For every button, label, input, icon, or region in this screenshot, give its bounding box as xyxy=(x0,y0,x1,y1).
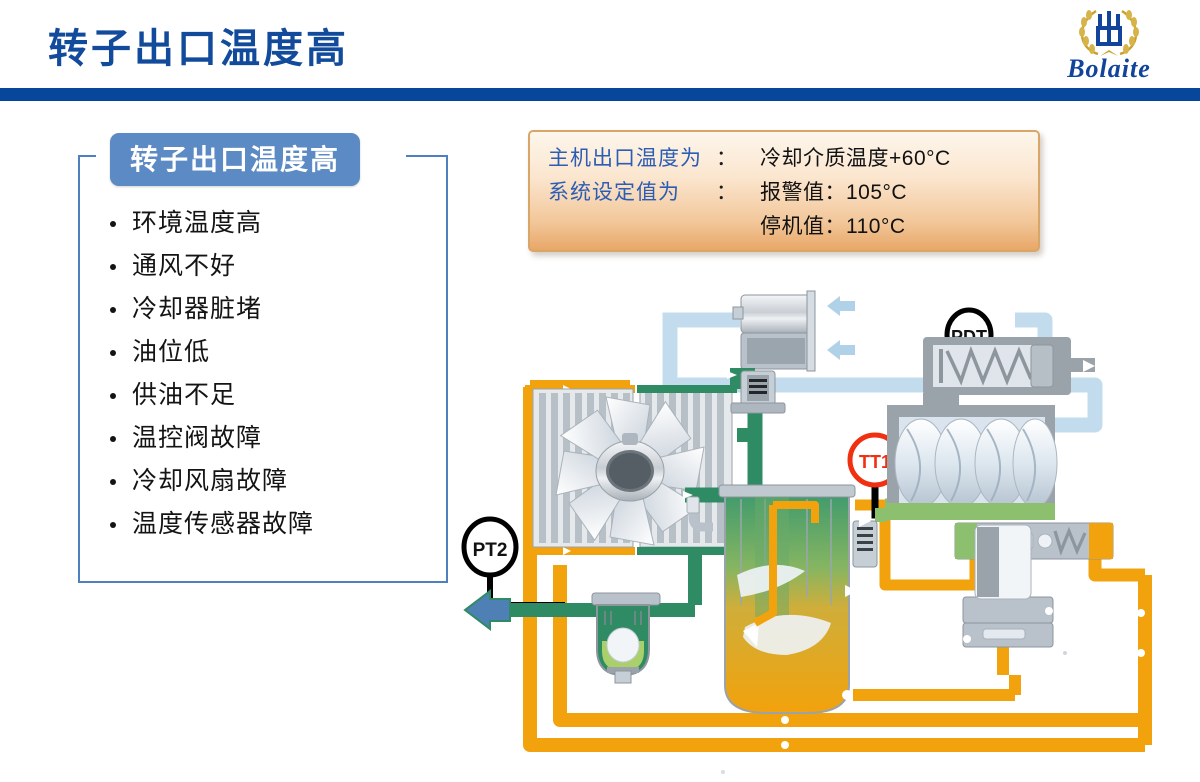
info-value: 冷却介质温度+60°C xyxy=(760,142,951,172)
panel-title-badge: 转子出口温度高 xyxy=(110,133,360,186)
list-item: 冷却器脏堵 xyxy=(104,295,434,323)
info-value: 报警值：105°C xyxy=(760,176,907,206)
list-item: 环境温度高 xyxy=(104,209,434,237)
svg-text:PT2: PT2 xyxy=(473,540,508,561)
causes-list: 环境温度高 通风不好 冷却器脏堵 油位低 供油不足 温控阀故障 冷却风扇故障 温… xyxy=(104,209,434,553)
list-item: 温控阀故障 xyxy=(104,424,434,452)
list-item: 供油不足 xyxy=(104,381,434,409)
list-item: 冷却风扇故障 xyxy=(104,467,434,495)
info-label: 系统设定值为 xyxy=(548,176,716,206)
list-item: 油位低 xyxy=(104,338,434,366)
info-colon: ： xyxy=(716,176,760,206)
screw-compressor-rotor xyxy=(875,405,1057,520)
info-row: 停机值：110°C xyxy=(548,210,1038,244)
list-item: 温度传感器故障 xyxy=(104,510,434,538)
header-divider-bar xyxy=(0,88,1200,101)
list-item: 通风不好 xyxy=(104,252,434,280)
air-intake-filter xyxy=(733,291,855,371)
info-row: 主机出口温度为 ： 冷却介质温度+60°C xyxy=(548,142,1038,176)
causes-panel: 环境温度高 通风不好 冷却器脏堵 油位低 供油不足 温控阀故障 冷却风扇故障 温… xyxy=(78,155,448,583)
page-header: 转子出口温度高 xyxy=(0,0,1200,101)
setpoint-info-box: 主机出口温度为 ： 冷却介质温度+60°C 系统设定值为 ： 报警值：105°C… xyxy=(528,130,1040,252)
screw-compressor-schematic: PDT 02 xyxy=(455,275,1200,780)
brand-logo: Bolaite xyxy=(1036,4,1182,88)
info-label: 主机出口温度为 xyxy=(548,142,716,172)
info-colon: ： xyxy=(716,142,760,172)
oil-stop-valve xyxy=(853,515,877,567)
info-value: 停机值：110°C xyxy=(760,210,906,240)
page-title: 转子出口温度高 xyxy=(48,16,349,74)
brand-wordmark: Bolaite xyxy=(1036,54,1182,84)
bolaite-wreath-emblem-icon xyxy=(1070,6,1148,58)
info-row: 系统设定值为 ： 报警值：105°C xyxy=(548,176,1038,210)
svg-text:TT1: TT1 xyxy=(859,452,891,472)
intake-control-valve xyxy=(923,335,1095,407)
